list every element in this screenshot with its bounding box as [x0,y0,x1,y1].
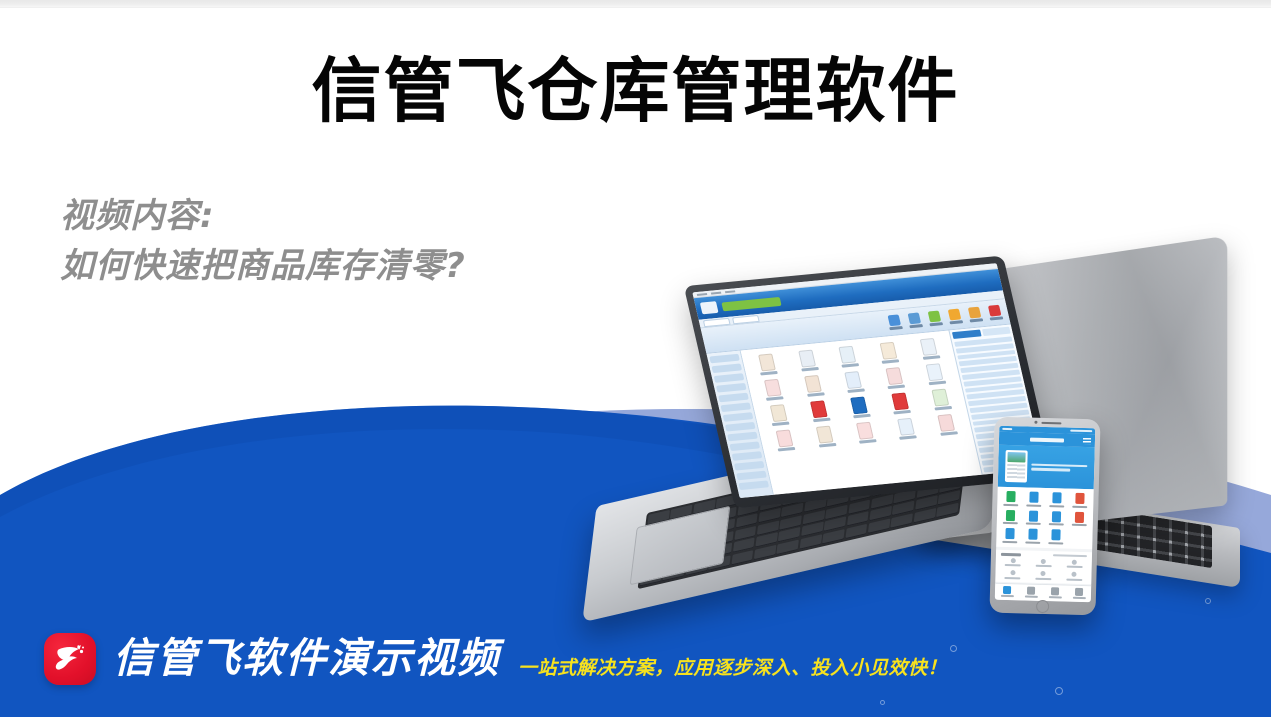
toolbar-icon[interactable] [967,307,983,323]
mobile-feature-icon[interactable] [1045,492,1068,507]
presentation-slide: 信管飞仓库管理软件 视频内容: 如何快速把商品库存清零? [0,0,1271,717]
mobile-stat-item[interactable] [1059,571,1090,580]
app-grid-icon[interactable] [879,391,921,415]
mobile-feature-icon[interactable] [998,528,1021,543]
mobile-feature-grid [996,487,1094,549]
app-grid-icon[interactable] [752,378,794,402]
toolbar-icon[interactable] [987,305,1003,321]
subtitle-line-2: 如何快速把商品库存清零? [60,241,466,291]
sidebar-item[interactable] [734,461,765,471]
brand-tagline: 一站式解决方案，应用逐步深入、投入小见效快！ [518,653,947,680]
app-logo-icon [700,301,719,314]
mobile-feature-icon[interactable] [1022,510,1045,525]
mobile-stat-item[interactable] [1059,559,1090,568]
mobile-stat-item[interactable] [998,557,1029,566]
sidebar-item[interactable] [736,471,767,481]
mobile-feature-icon[interactable] [1044,529,1067,544]
app-grid-icon[interactable] [839,395,881,419]
hamburger-menu-icon[interactable] [1083,437,1091,443]
sidebar-item[interactable] [711,363,742,373]
xinguanfei-bird-logo [44,633,96,685]
mobile-feature-icon[interactable] [999,509,1022,524]
mobile-feature-icon[interactable] [1022,491,1045,506]
nav-reports-icon[interactable] [1043,587,1067,599]
mobile-stat-item[interactable] [1028,558,1059,567]
app-grid-icon[interactable] [764,428,806,452]
sidebar-item[interactable] [720,402,751,412]
mobile-feature-icon[interactable] [1021,528,1044,543]
toolbar-icon[interactable] [947,309,963,325]
mobile-feature-icon[interactable] [1068,493,1091,508]
smartphone-mockup [989,417,1100,616]
phone-screen [995,426,1096,602]
app-grid-icon[interactable] [758,403,800,427]
banner-phone-illustration [1005,450,1028,483]
toolbar-icon[interactable] [927,310,943,326]
app-grid-icon[interactable] [908,337,950,361]
sidebar-item[interactable] [727,432,758,442]
top-grey-strip [0,0,1271,7]
mobile-feature-icon[interactable] [1068,511,1091,526]
app-grid-icon[interactable] [787,348,829,372]
page-title: 信管飞仓库管理软件 [0,52,1271,130]
subtitle-line-1: 视频内容: [60,191,466,241]
app-grid-icon[interactable] [926,413,968,437]
app-grid-icon[interactable] [914,362,956,386]
app-banner-highlight [721,296,781,310]
app-grid-icon[interactable] [833,370,875,394]
toolbar-icon[interactable] [887,314,903,330]
sidebar-item[interactable] [732,451,763,461]
sidebar-item[interactable] [723,412,754,422]
app-grid-icon[interactable] [874,366,916,390]
app-grid-icon[interactable] [845,421,887,445]
mobile-feature-icon[interactable] [1045,511,1068,526]
phone-earpiece [994,420,1100,426]
mobile-stats-section [995,549,1092,584]
nav-profile-icon[interactable] [1067,588,1091,600]
app-grid-icon[interactable] [792,374,834,398]
mobile-feature-icon[interactable] [999,491,1022,506]
sidebar-item[interactable] [729,441,760,451]
app-icon-workspace [741,331,982,495]
app-grid-icon[interactable] [868,341,910,365]
device-mockup-group [580,250,1271,650]
app-grid-icon[interactable] [920,387,962,411]
sidebar-item[interactable] [714,373,745,383]
sidebar-item[interactable] [725,422,756,432]
brand-name: 信管飞软件演示视频 [113,638,500,679]
mobile-stat-item[interactable] [1028,571,1059,580]
laptop-screen [692,263,1044,498]
sidebar-item[interactable] [709,354,740,364]
sidebar-item[interactable] [718,393,749,403]
app-grid-icon[interactable] [827,345,869,369]
app-grid-icon[interactable] [746,352,788,376]
banner-text-lines [1031,463,1087,471]
nav-documents-icon[interactable] [1019,586,1043,598]
mobile-app-title [1030,437,1064,442]
right-panel-tab-active[interactable] [952,330,981,339]
sidebar-item[interactable] [738,480,769,490]
app-icon-grid [746,337,968,453]
mobile-stat-item[interactable] [997,570,1028,579]
app-grid-icon[interactable] [885,417,927,441]
mobile-app-banner [998,445,1095,489]
app-grid-icon[interactable] [804,424,846,448]
mobile-stats-grid [997,557,1090,580]
top-grey-strip-underline [0,7,1271,8]
subtitle-block: 视频内容: 如何快速把商品库存清零? [60,191,466,292]
mobile-app-header [999,432,1095,448]
bottom-brand-bar: 信管飞软件演示视频 一站式解决方案，应用逐步深入、投入小见效快！ [0,600,1271,717]
toolbar-icon[interactable] [907,312,923,328]
right-panel-tab[interactable] [982,327,1011,336]
app-grid-icon[interactable] [798,399,840,423]
nav-home-icon[interactable] [995,586,1019,598]
sidebar-item[interactable] [716,383,747,393]
